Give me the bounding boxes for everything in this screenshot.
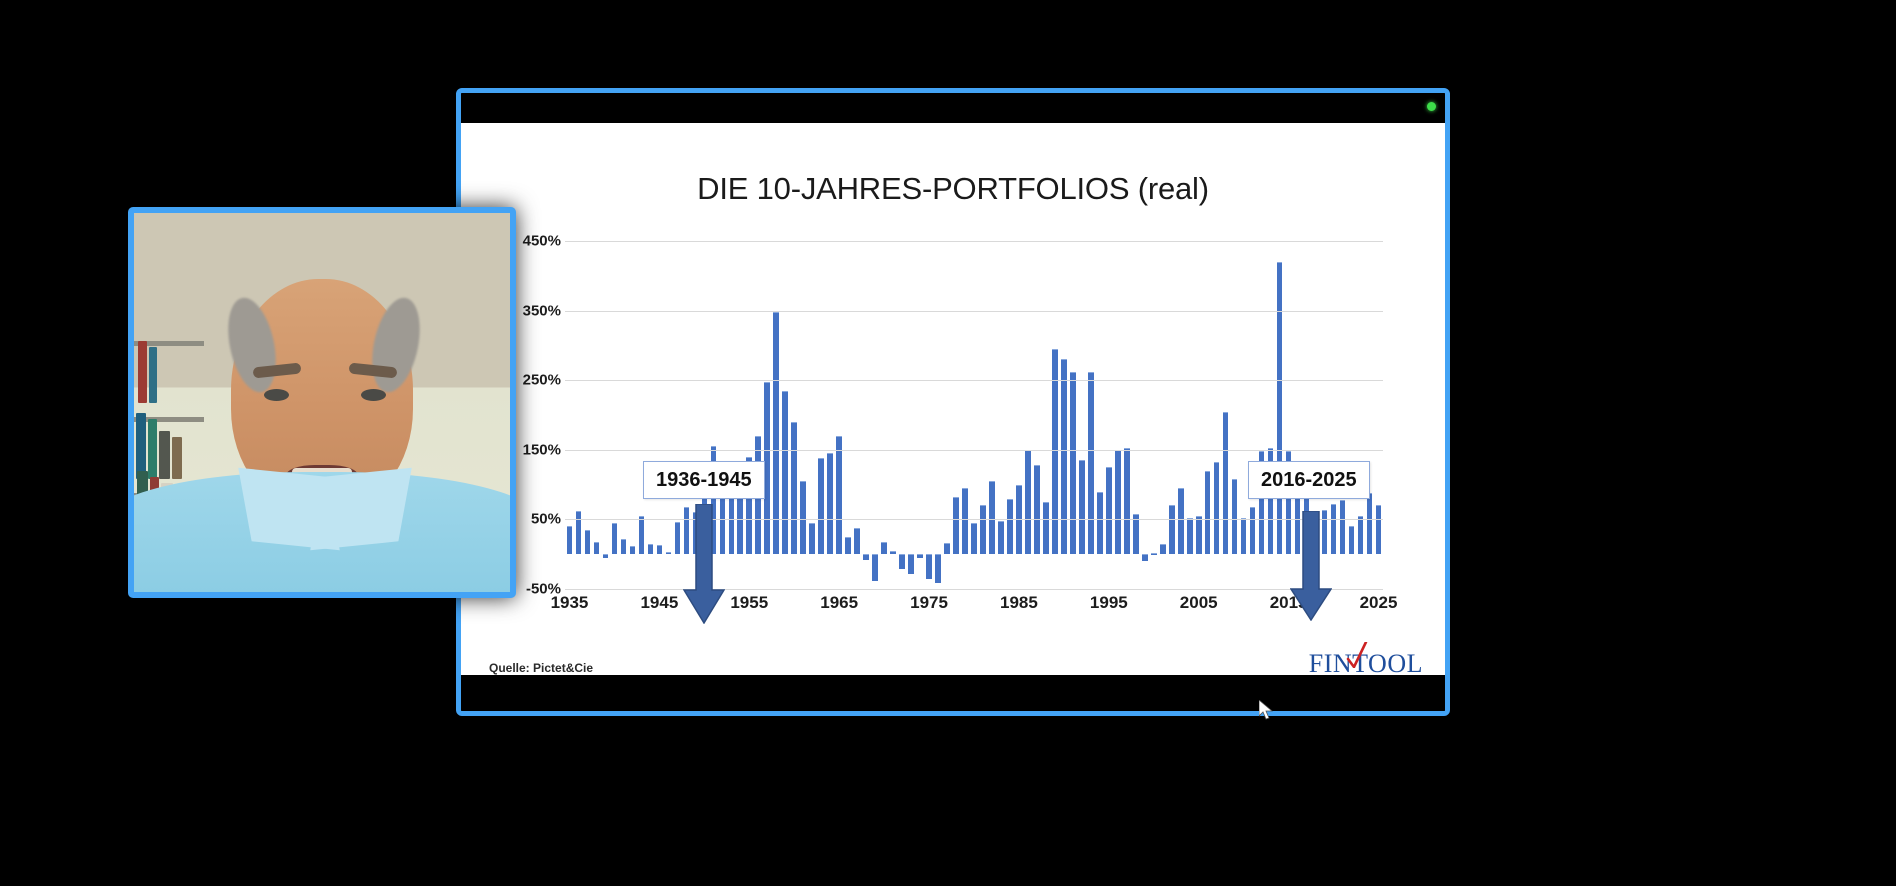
bar <box>737 497 743 554</box>
x-axis-tick: 1985 <box>1000 593 1038 613</box>
bar <box>773 312 779 554</box>
bar <box>1025 450 1031 554</box>
bar <box>872 554 878 580</box>
bar <box>1169 505 1175 554</box>
x-axis-tick: 1935 <box>551 593 589 613</box>
eye-right <box>361 389 386 401</box>
bar <box>881 542 887 555</box>
bar <box>603 554 609 558</box>
bar <box>1223 412 1229 555</box>
window-bottom-bar <box>461 675 1445 711</box>
bar <box>621 539 627 554</box>
bar <box>899 554 905 569</box>
gridline <box>565 241 1383 242</box>
bar <box>863 554 869 560</box>
gridline <box>565 311 1383 312</box>
bar <box>818 458 824 554</box>
bar <box>648 544 654 554</box>
grid-fade-left <box>0 566 210 886</box>
screen-capture-stage: DIE 10-JAHRES-PORTFOLIOS (real) -50%50%1… <box>0 0 1896 886</box>
bar <box>1061 359 1067 554</box>
screen-share-window[interactable]: DIE 10-JAHRES-PORTFOLIOS (real) -50%50%1… <box>456 88 1450 716</box>
bar <box>1205 471 1211 555</box>
bar <box>1214 462 1220 554</box>
x-axis-tick: 1975 <box>910 593 948 613</box>
y-axis-tick: 350% <box>523 302 561 319</box>
bar <box>666 552 672 554</box>
bar <box>935 554 941 583</box>
bar <box>1277 262 1283 554</box>
bar <box>845 537 851 554</box>
bar <box>782 391 788 555</box>
bar <box>1250 507 1256 554</box>
presentation-slide: DIE 10-JAHRES-PORTFOLIOS (real) -50%50%1… <box>461 123 1445 685</box>
y-axis-tick: 450% <box>523 233 561 250</box>
bar <box>1376 505 1382 554</box>
y-axis-tick: 50% <box>531 511 561 528</box>
x-axis-tick: 2025 <box>1360 593 1398 613</box>
bar-chart: -50%50%150%250%350%450% 1935194519551965… <box>461 241 1450 661</box>
bar <box>791 422 797 554</box>
bar <box>800 481 806 554</box>
bar <box>639 516 645 554</box>
bar <box>1187 518 1193 554</box>
grid-fade-right <box>1686 566 1896 886</box>
x-axis-tick: 1945 <box>640 593 678 613</box>
bar <box>657 545 663 554</box>
bar <box>926 554 932 578</box>
red-check-mark-icon <box>1346 642 1368 668</box>
green-dot-icon <box>1427 102 1436 111</box>
bar <box>854 528 860 554</box>
bar <box>953 497 959 554</box>
bar <box>612 523 618 554</box>
source-note: Quelle: Pictet&Cie <box>489 661 593 675</box>
bar <box>980 505 986 554</box>
bar <box>576 511 582 554</box>
callout-2016-2025: 2016-2025 <box>1248 461 1370 499</box>
bar <box>1349 526 1355 554</box>
bar <box>567 526 573 554</box>
webcam-video-tile[interactable] <box>128 207 516 598</box>
bar <box>989 481 995 554</box>
bar <box>1340 500 1346 554</box>
window-top-bar <box>461 93 1445 123</box>
bar <box>1160 544 1166 554</box>
bar <box>1151 553 1157 555</box>
x-axis-tick: 1995 <box>1090 593 1128 613</box>
bar <box>1232 479 1238 554</box>
eye-left <box>264 389 289 401</box>
bar <box>998 521 1004 554</box>
bar <box>1367 493 1373 554</box>
bar <box>917 554 923 557</box>
bar <box>764 382 770 555</box>
bar <box>890 551 896 554</box>
x-axis-tick: 1955 <box>730 593 768 613</box>
bar <box>944 543 950 554</box>
bar <box>594 542 600 555</box>
y-axis-tick: 150% <box>523 441 561 458</box>
bar <box>630 546 636 554</box>
bar <box>1241 518 1247 554</box>
bar <box>1088 372 1094 554</box>
bar <box>1070 372 1076 554</box>
bar <box>908 554 914 573</box>
bar <box>1115 450 1121 554</box>
bar <box>809 523 815 554</box>
collar-right <box>310 468 411 551</box>
mouse-cursor <box>1259 700 1273 720</box>
bar <box>1358 516 1364 554</box>
page-title: DIE 10-JAHRES-PORTFOLIOS (real) <box>461 171 1445 207</box>
bar <box>836 436 842 554</box>
down-arrow-icon-1 <box>683 504 725 624</box>
gridline <box>565 380 1383 381</box>
bar <box>827 453 833 554</box>
bar <box>1178 488 1184 554</box>
bar <box>1097 492 1103 555</box>
bar <box>1007 499 1013 555</box>
x-axis-tick: 1965 <box>820 593 858 613</box>
bar <box>1034 465 1040 554</box>
gridline <box>565 450 1383 451</box>
down-arrow-icon-2 <box>1290 511 1332 621</box>
bar <box>1043 502 1049 554</box>
bar <box>1196 516 1202 554</box>
callout-1936-1945: 1936-1945 <box>643 461 765 499</box>
bar <box>971 523 977 554</box>
bar <box>585 530 591 554</box>
x-axis-tick: 2005 <box>1180 593 1218 613</box>
y-axis-tick: 250% <box>523 372 561 389</box>
bar <box>962 488 968 554</box>
bar <box>1079 460 1085 554</box>
bar <box>675 522 681 554</box>
bar <box>1106 467 1112 554</box>
bar <box>1124 448 1130 554</box>
bar <box>1142 554 1148 561</box>
